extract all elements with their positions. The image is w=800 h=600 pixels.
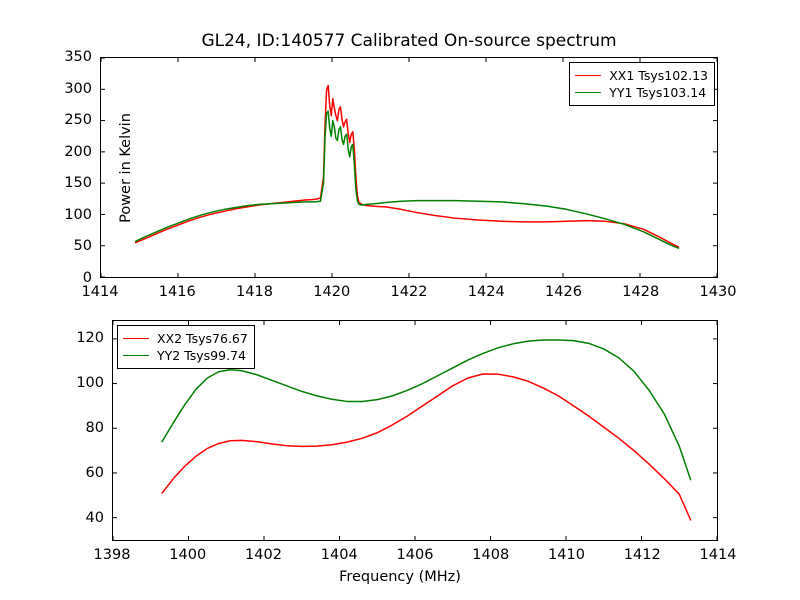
ytick-label: 0 [42, 270, 92, 286]
series-line-1 [136, 111, 679, 248]
legend-label-xx1: XX1 Tsys102.13 [609, 68, 708, 83]
bottom-plot-legend: XX2 Tsys76.67 YY2 Tsys99.74 [117, 325, 255, 369]
xtick-label: 1410 [548, 547, 585, 563]
ytick-label: 80 [54, 420, 104, 436]
legend-label-yy1: YY1 Tsys103.14 [609, 85, 706, 100]
legend-swatch-yy1 [575, 92, 601, 93]
ytick-label: 150 [42, 175, 92, 191]
xtick-label: 1426 [545, 284, 582, 300]
ytick-label: 350 [42, 49, 92, 65]
ytick-label: 100 [42, 207, 92, 223]
legend-swatch-xx2 [123, 338, 149, 339]
xtick-label: 1428 [622, 284, 659, 300]
xtick-label: 1418 [236, 284, 273, 300]
xtick-label: 1414 [700, 547, 737, 563]
xtick-label: 1400 [169, 547, 206, 563]
xtick-label: 1424 [468, 284, 505, 300]
xtick-label: 1420 [313, 284, 350, 300]
xtick-label: 1414 [82, 284, 119, 300]
figure-canvas: GL24, ID:140577 Calibrated On-source spe… [0, 0, 800, 600]
series-line-0 [136, 86, 679, 247]
ytick-label: 40 [54, 510, 104, 526]
xtick-label: 1430 [700, 284, 737, 300]
page-title: GL24, ID:140577 Calibrated On-source spe… [100, 31, 718, 51]
xtick-label: 1404 [321, 547, 358, 563]
top-plot-ylabel: Power in Kelvin [118, 83, 134, 253]
xtick-label: 1402 [245, 547, 282, 563]
legend-label-xx2: XX2 Tsys76.67 [157, 331, 248, 346]
bottom-plot-xlabel: Frequency (MHz) [339, 569, 461, 585]
legend-item: YY1 Tsys103.14 [575, 84, 708, 101]
legend-label-yy2: YY2 Tsys99.74 [157, 348, 246, 363]
legend-swatch-xx1 [575, 75, 601, 76]
bottom-plot-axes: XX2 Tsys76.67 YY2 Tsys99.74 [112, 320, 718, 541]
legend-swatch-yy2 [123, 355, 149, 356]
ytick-label: 300 [42, 81, 92, 97]
ytick-label: 60 [54, 465, 104, 481]
xtick-label: 1416 [159, 284, 196, 300]
ytick-label: 120 [54, 330, 104, 346]
xtick-label: 1406 [397, 547, 434, 563]
xtick-label: 1422 [391, 284, 428, 300]
xtick-label: 1398 [94, 547, 131, 563]
top-plot-axes: XX1 Tsys102.13 YY1 Tsys103.14 Power in K… [100, 57, 718, 278]
xtick-label: 1408 [472, 547, 509, 563]
legend-item: XX1 Tsys102.13 [575, 67, 708, 84]
ytick-label: 250 [42, 112, 92, 128]
ytick-label: 50 [42, 238, 92, 254]
xtick-label: 1412 [624, 547, 661, 563]
ytick-label: 100 [54, 375, 104, 391]
top-plot-legend: XX1 Tsys102.13 YY1 Tsys103.14 [569, 62, 715, 106]
ytick-label: 200 [42, 144, 92, 160]
legend-item: YY2 Tsys99.74 [123, 347, 248, 364]
legend-item: XX2 Tsys76.67 [123, 330, 248, 347]
series-line-0 [162, 374, 691, 520]
